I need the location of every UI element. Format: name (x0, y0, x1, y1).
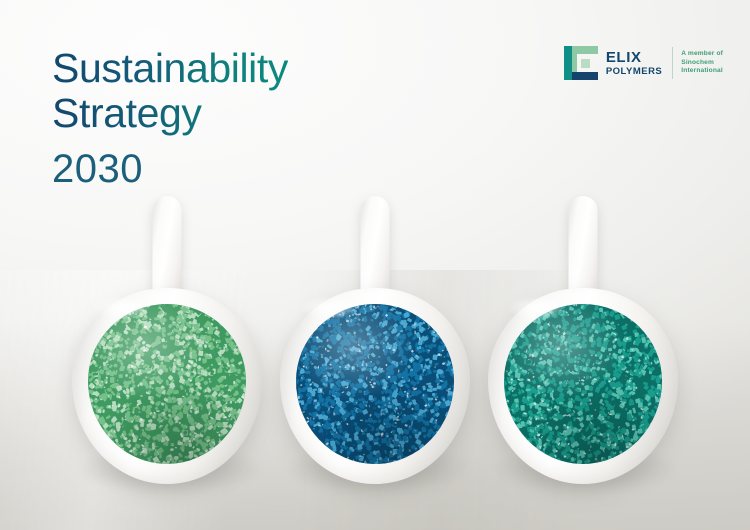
page-title: Sustainability Strategy 2030 (52, 46, 288, 191)
spoon-bowl (72, 288, 262, 484)
logo-brand-primary: ELIX (606, 50, 662, 65)
title-line-1: Sustainability (52, 46, 288, 91)
logo-tagline: A member of Sinochem International (681, 50, 723, 75)
logo-divider (672, 47, 673, 79)
elix-wordmark: ELIX POLYMERS (606, 50, 662, 77)
title-line-2: Strategy (52, 91, 288, 136)
spoon-bowl (280, 288, 470, 484)
cover-page: Sustainability Strategy 2030 ELIX POLYME… (0, 0, 750, 530)
spoon-bowl (488, 288, 678, 484)
elix-polymers-logo: ELIX POLYMERS A member of Sinochem Inter… (564, 46, 723, 80)
spoon-rim (88, 304, 246, 464)
logo-brand-secondary: POLYMERS (606, 67, 662, 77)
elix-logo-mark (564, 46, 598, 80)
spoon-rim (296, 304, 454, 464)
teal-polymer-pellets (504, 304, 662, 464)
blue-polymer-pellets (296, 304, 454, 464)
title-year: 2030 (52, 147, 288, 191)
spoon-rim (504, 304, 662, 464)
green-polymer-pellets (88, 304, 246, 464)
